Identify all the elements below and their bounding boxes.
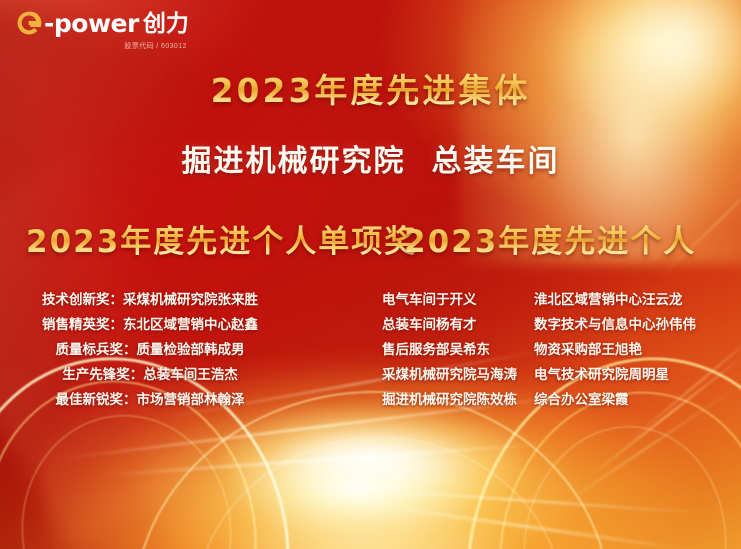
- collective-winner-1: 掘进机械研究院: [182, 144, 406, 179]
- advanced-individual-name-left: 总装车间杨有才: [382, 313, 534, 338]
- g-power-logo-icon: [16, 10, 42, 36]
- special-award-list: 技术创新奖：采煤机械研究院张来胜销售精英奖：东北区域营销中心赵鑫质量标兵奖：质量…: [0, 288, 300, 413]
- brand-wordmark: -power: [44, 11, 139, 36]
- page-title: 2023年度先进集体: [0, 64, 741, 112]
- award-poster: -power 创力 股票代码 / 603012 2023年度先进集体 掘进机械研…: [0, 0, 741, 549]
- section-heading-advanced-individuals: 2023年度先进个人: [404, 216, 696, 261]
- advanced-individual-list: 电气车间于开义淮北区域营销中心汪云龙总装车间杨有才数字技术与信息中心孙伟伟售后服…: [382, 288, 738, 413]
- brand-logo: -power 创力 股票代码 / 603012: [16, 10, 189, 51]
- advanced-individual-name-right: 数字技术与信息中心孙伟伟: [534, 313, 738, 338]
- advanced-individual-row: 采煤机械研究院马海涛电气技术研究院周明星: [382, 363, 738, 388]
- section-heading-special-awards: 2023年度先进个人单项奖: [26, 216, 417, 261]
- collective-winner-2: 总装车间: [432, 144, 560, 179]
- advanced-individual-name-left: 电气车间于开义: [382, 288, 534, 313]
- special-award-row: 销售精英奖：东北区域营销中心赵鑫: [0, 313, 300, 338]
- special-award-row: 技术创新奖：采煤机械研究院张来胜: [0, 288, 300, 313]
- advanced-individual-name-right: 淮北区域营销中心汪云龙: [534, 288, 738, 313]
- special-award-row: 生产先锋奖：总装车间王浩杰: [0, 363, 300, 388]
- brand-wordmark-cn: 创力: [143, 12, 189, 35]
- collective-winners: 掘进机械研究院总装车间: [0, 136, 741, 180]
- advanced-individual-name-left: 售后服务部吴希东: [382, 338, 534, 363]
- stock-code-label: 股票代码 / 603012: [124, 41, 188, 51]
- advanced-individual-name-right: 综合办公室梁霞: [534, 388, 738, 413]
- advanced-individual-row: 电气车间于开义淮北区域营销中心汪云龙: [382, 288, 738, 313]
- special-award-row: 质量标兵奖：质量检验部韩成男: [0, 338, 300, 363]
- advanced-individual-name-left: 掘进机械研究院陈效栋: [382, 388, 534, 413]
- advanced-individual-name-left: 采煤机械研究院马海涛: [382, 363, 534, 388]
- special-award-row: 最佳新锐奖：市场营销部林翰泽: [0, 388, 300, 413]
- advanced-individual-row: 掘进机械研究院陈效栋综合办公室梁霞: [382, 388, 738, 413]
- advanced-individual-row: 售后服务部吴希东物资采购部王旭艳: [382, 338, 738, 363]
- advanced-individual-row: 总装车间杨有才数字技术与信息中心孙伟伟: [382, 313, 738, 338]
- advanced-individual-name-right: 电气技术研究院周明星: [534, 363, 738, 388]
- advanced-individual-name-right: 物资采购部王旭艳: [534, 338, 738, 363]
